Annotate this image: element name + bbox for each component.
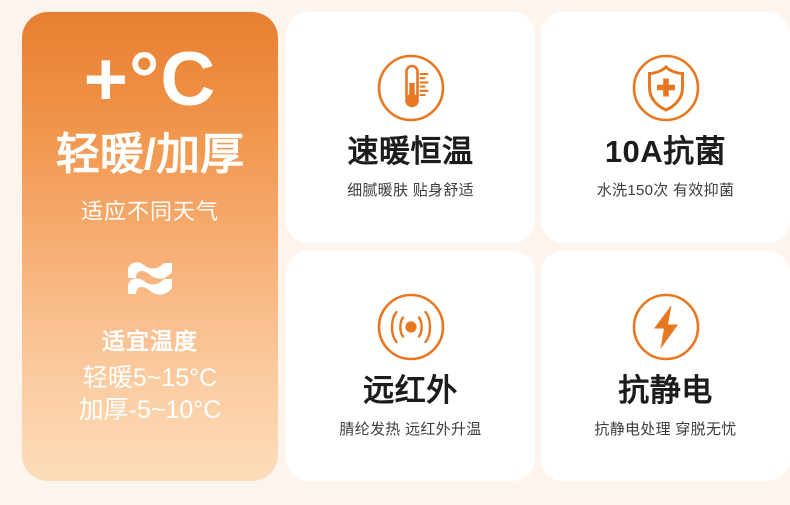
- thermometer-icon: [373, 50, 449, 126]
- feature-title: 远红外: [363, 373, 458, 409]
- hero-temperature-line-light: 轻暖5~15°C: [83, 362, 217, 394]
- feature-description: 腈纶发热 远红外升温: [339, 418, 481, 439]
- feature-board: +°C 轻暖/加厚 适应不同天气 适宜温度 轻暖5~15°C 加厚-5~10°C: [0, 0, 790, 505]
- feature-title: 10A抗菌: [605, 134, 726, 170]
- infrared-waves-icon: [373, 289, 449, 365]
- feature-description: 水洗150次 有效抑菌: [597, 179, 735, 200]
- lightning-bolt-icon: [628, 289, 704, 365]
- feature-grid: 速暖恒温 细腻暖肤 贴身舒适 10A抗菌 水洗150次 有效抑菌: [286, 12, 790, 481]
- hero-temperature-label: 适宜温度: [102, 322, 198, 356]
- feature-card-far-infrared: 远红外 腈纶发热 远红外升温: [286, 251, 535, 482]
- feature-description: 细腻暖肤 贴身舒适: [347, 179, 474, 200]
- hero-subtitle: 适应不同天气: [81, 194, 219, 226]
- feature-title: 抗静电: [618, 373, 713, 409]
- shield-plus-icon: [628, 50, 704, 126]
- feature-title: 速暖恒温: [348, 134, 474, 170]
- feature-description: 抗静电处理 穿脱无忧: [594, 418, 736, 439]
- hero-temperature-line-thick: 加厚-5~10°C: [79, 394, 222, 426]
- feature-card-anti-static: 抗静电 抗静电处理 穿脱无忧: [541, 251, 790, 482]
- feature-card-antibacterial: 10A抗菌 水洗150次 有效抑菌: [541, 12, 790, 243]
- feature-card-fast-warm: 速暖恒温 细腻暖肤 贴身舒适: [286, 12, 535, 243]
- hero-title: 轻暖/加厚: [56, 132, 244, 178]
- hero-temperature-card: +°C 轻暖/加厚 适应不同天气 适宜温度 轻暖5~15°C 加厚-5~10°C: [22, 12, 278, 481]
- hero-plus-celsius-badge: +°C: [84, 42, 217, 118]
- approximately-equal-icon: [124, 256, 176, 298]
